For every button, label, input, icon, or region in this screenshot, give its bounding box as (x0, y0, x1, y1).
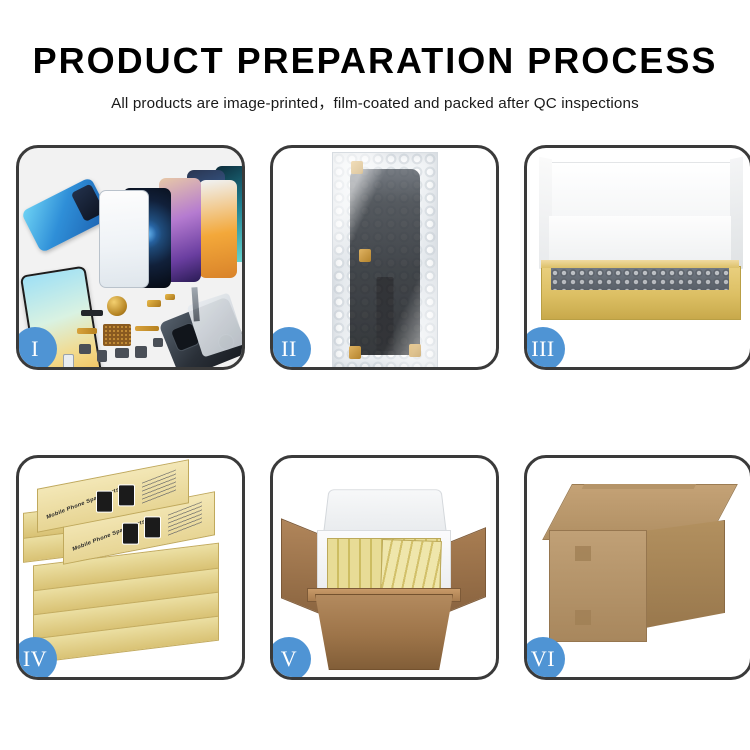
process-step-panel-3: III (524, 145, 750, 370)
box-thumbnail-icon (144, 516, 161, 538)
small-part-icon (115, 348, 129, 358)
tape-tab-icon (409, 344, 421, 357)
small-part-icon (79, 344, 91, 354)
kraft-box-stack-icon: Mobile Phone Spare Parts Mobile Phone Sp… (23, 474, 237, 664)
page-subtitle: All products are image-printed，film-coat… (0, 91, 750, 113)
small-part-icon (97, 350, 107, 362)
process-step-panel-4: Mobile Phone Spare Parts Mobile Phone Sp… (16, 455, 245, 680)
step-badge-5: V (270, 637, 311, 680)
sim-tray-icon (63, 354, 74, 367)
tape-tab-icon (351, 161, 363, 174)
carton-tape-mark (575, 546, 591, 561)
tape-tab-icon (359, 249, 371, 262)
step-badge-2: II (270, 327, 311, 370)
process-step-panel-1: I (16, 145, 245, 370)
step-2-illustration (273, 148, 496, 367)
page-title: PRODUCT PREPARATION PROCESS (0, 42, 750, 80)
process-step-panel-5: V (270, 455, 499, 680)
carton-tape-mark (575, 610, 591, 625)
box-spec-lines (142, 469, 176, 504)
tape-tab-icon (349, 346, 361, 359)
flex-cable-icon (135, 326, 159, 331)
bubble-wrap-bag-icon (332, 152, 438, 367)
gold-connector-icon (147, 300, 161, 307)
step-badge-4: IV (16, 637, 57, 680)
wrapped-phone-part-icon (350, 169, 420, 355)
header: PRODUCT PREPARATION PROCESS All products… (0, 0, 750, 113)
small-part-icon (135, 346, 147, 358)
ic-grid-icon (103, 324, 131, 346)
box-thumbnail-icon (96, 491, 113, 513)
box-lip-icon (541, 260, 739, 268)
blue-phone-screen-icon (21, 177, 111, 253)
process-step-grid: I II (16, 145, 750, 680)
step-6-illustration (527, 458, 750, 677)
step-5-illustration (273, 458, 496, 677)
step-badge-1: I (16, 327, 57, 370)
process-step-panel-6: VI (524, 455, 750, 680)
box-thumbnail-icon (118, 484, 135, 506)
product-preparation-infographic: PRODUCT PREPARATION PROCESS All products… (0, 0, 750, 750)
carton-body-icon (315, 594, 453, 670)
carton-tape-seam (582, 484, 697, 489)
step-4-illustration: Mobile Phone Spare Parts Mobile Phone Sp… (19, 458, 242, 677)
step-badge-6: VI (524, 637, 565, 680)
carton-side-face (645, 520, 725, 628)
glass-screen-protector-icon (99, 190, 149, 288)
flex-cable-icon (77, 328, 97, 334)
speaker-coil-icon (107, 296, 127, 316)
part-chip-icon (81, 310, 103, 316)
step-badge-3: III (524, 327, 565, 370)
step-3-illustration (527, 148, 750, 367)
small-part-icon (153, 338, 163, 347)
carton-front-face (549, 530, 647, 642)
box-spec-lines (168, 501, 202, 536)
step-1-illustration (19, 148, 242, 367)
orange-phone-screen-icon (199, 180, 237, 278)
box-thumbnail-icon (122, 523, 139, 545)
gold-connector-icon (165, 294, 175, 300)
process-step-panel-2: II (270, 145, 499, 370)
